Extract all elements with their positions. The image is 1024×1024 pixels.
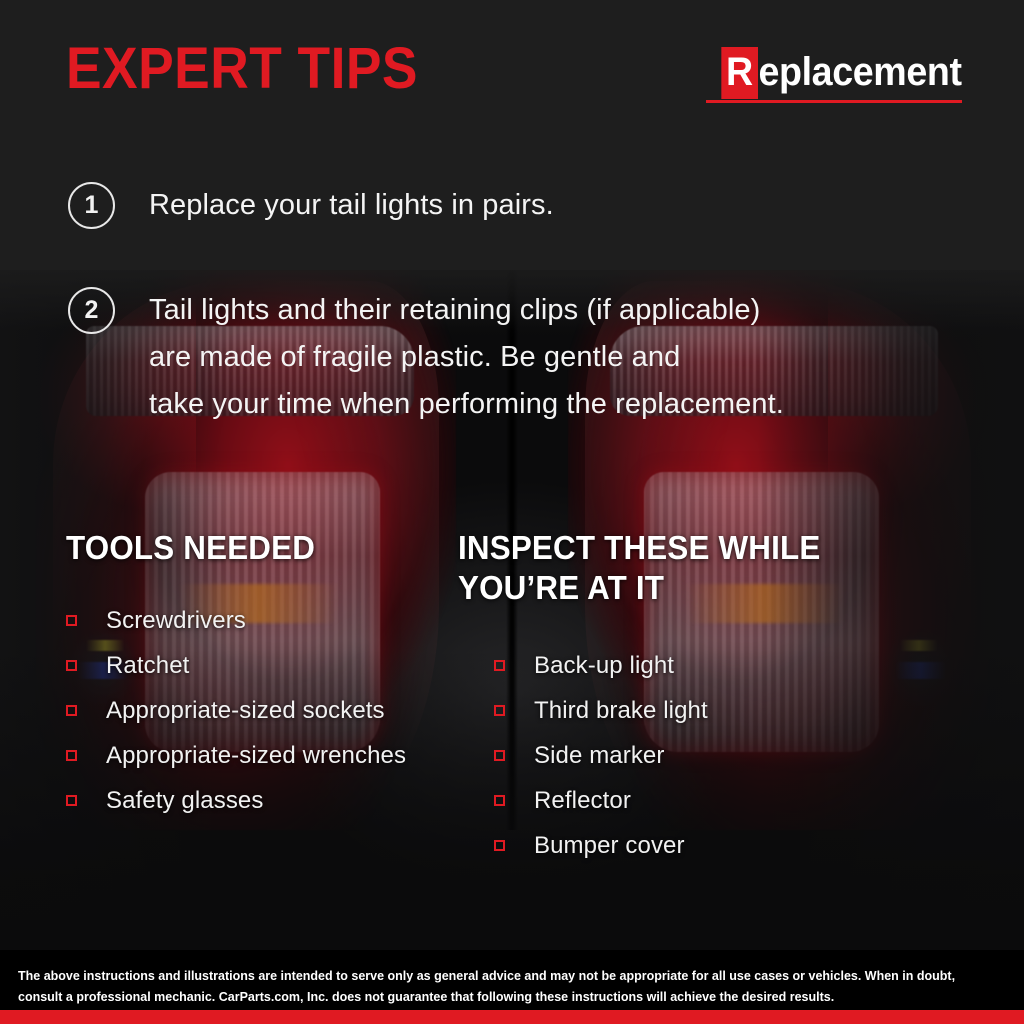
list-item-label: Bumper cover (534, 832, 685, 860)
list-item: Appropriate-sized wrenches (66, 733, 406, 778)
list-item: Safety glasses (66, 778, 406, 823)
list-item: Screwdrivers (66, 598, 406, 643)
logo-wordmark: Replacement (722, 47, 962, 99)
page-title: EXPERT TIPS (66, 40, 418, 98)
checkbox-icon (66, 750, 77, 761)
expert-tips-infographic: EXPERT TIPS Replacement 1 Replace your t… (0, 0, 1024, 1024)
inspect-these-list: Back-up light Third brake light Side mar… (494, 643, 708, 868)
checkbox-icon (494, 750, 505, 761)
tip-line: are made of fragile plastic. Be gentle a… (149, 334, 784, 381)
list-item: Bumper cover (494, 823, 708, 868)
tip-text-2: Tail lights and their retaining clips (i… (149, 287, 784, 428)
checkbox-icon (66, 705, 77, 716)
list-item: Side marker (494, 733, 708, 778)
tip-number-badge-2: 2 (68, 287, 115, 334)
logo-rest-text: eplacement (759, 50, 962, 94)
tip-line: Tail lights and their retaining clips (i… (149, 287, 784, 334)
checkbox-icon (494, 705, 505, 716)
list-item-label: Side marker (534, 742, 664, 770)
checkbox-icon (494, 840, 505, 851)
checkbox-icon (494, 795, 505, 806)
tip-text-1: Replace your tail lights in pairs. (149, 182, 554, 229)
list-item-label: Appropriate-sized wrenches (106, 742, 406, 770)
heading-line: INSPECT THESE WHILE (458, 528, 820, 568)
heading-line: YOU’RE AT IT (458, 568, 820, 608)
list-item-label: Reflector (534, 787, 631, 815)
checkbox-icon (66, 660, 77, 671)
list-item-label: Screwdrivers (106, 607, 246, 635)
bottom-red-bar (0, 1010, 1024, 1024)
list-item-label: Ratchet (106, 652, 189, 680)
list-item-label: Safety glasses (106, 787, 263, 815)
tools-needed-list: Screwdrivers Ratchet Appropriate-sized s… (66, 598, 406, 823)
inspect-these-heading: INSPECT THESE WHILE YOU’RE AT IT (458, 528, 820, 608)
list-item: Appropriate-sized sockets (66, 688, 406, 733)
tip-line: Replace your tail lights in pairs. (149, 182, 554, 229)
checkbox-icon (66, 615, 77, 626)
list-item: Back-up light (494, 643, 708, 688)
list-item-label: Appropriate-sized sockets (106, 697, 385, 725)
tip-item-2: 2 Tail lights and their retaining clips … (68, 287, 784, 428)
list-item-label: Third brake light (534, 697, 708, 725)
list-item-label: Back-up light (534, 652, 674, 680)
list-item: Third brake light (494, 688, 708, 733)
replacement-logo: Replacement (706, 47, 962, 103)
heading-line: TOOLS NEEDED (66, 528, 315, 568)
checkbox-icon (66, 795, 77, 806)
list-item: Reflector (494, 778, 708, 823)
tip-line: take your time when performing the repla… (149, 381, 784, 428)
disclaimer-text: The above instructions and illustrations… (0, 950, 1024, 1008)
tools-needed-heading: TOOLS NEEDED (66, 528, 315, 568)
logo-underline (706, 100, 962, 103)
list-item: Ratchet (66, 643, 406, 688)
checkbox-icon (494, 660, 505, 671)
logo-initial-badge: R (722, 47, 758, 99)
tip-item-1: 1 Replace your tail lights in pairs. (68, 182, 554, 229)
tip-number-badge-1: 1 (68, 182, 115, 229)
